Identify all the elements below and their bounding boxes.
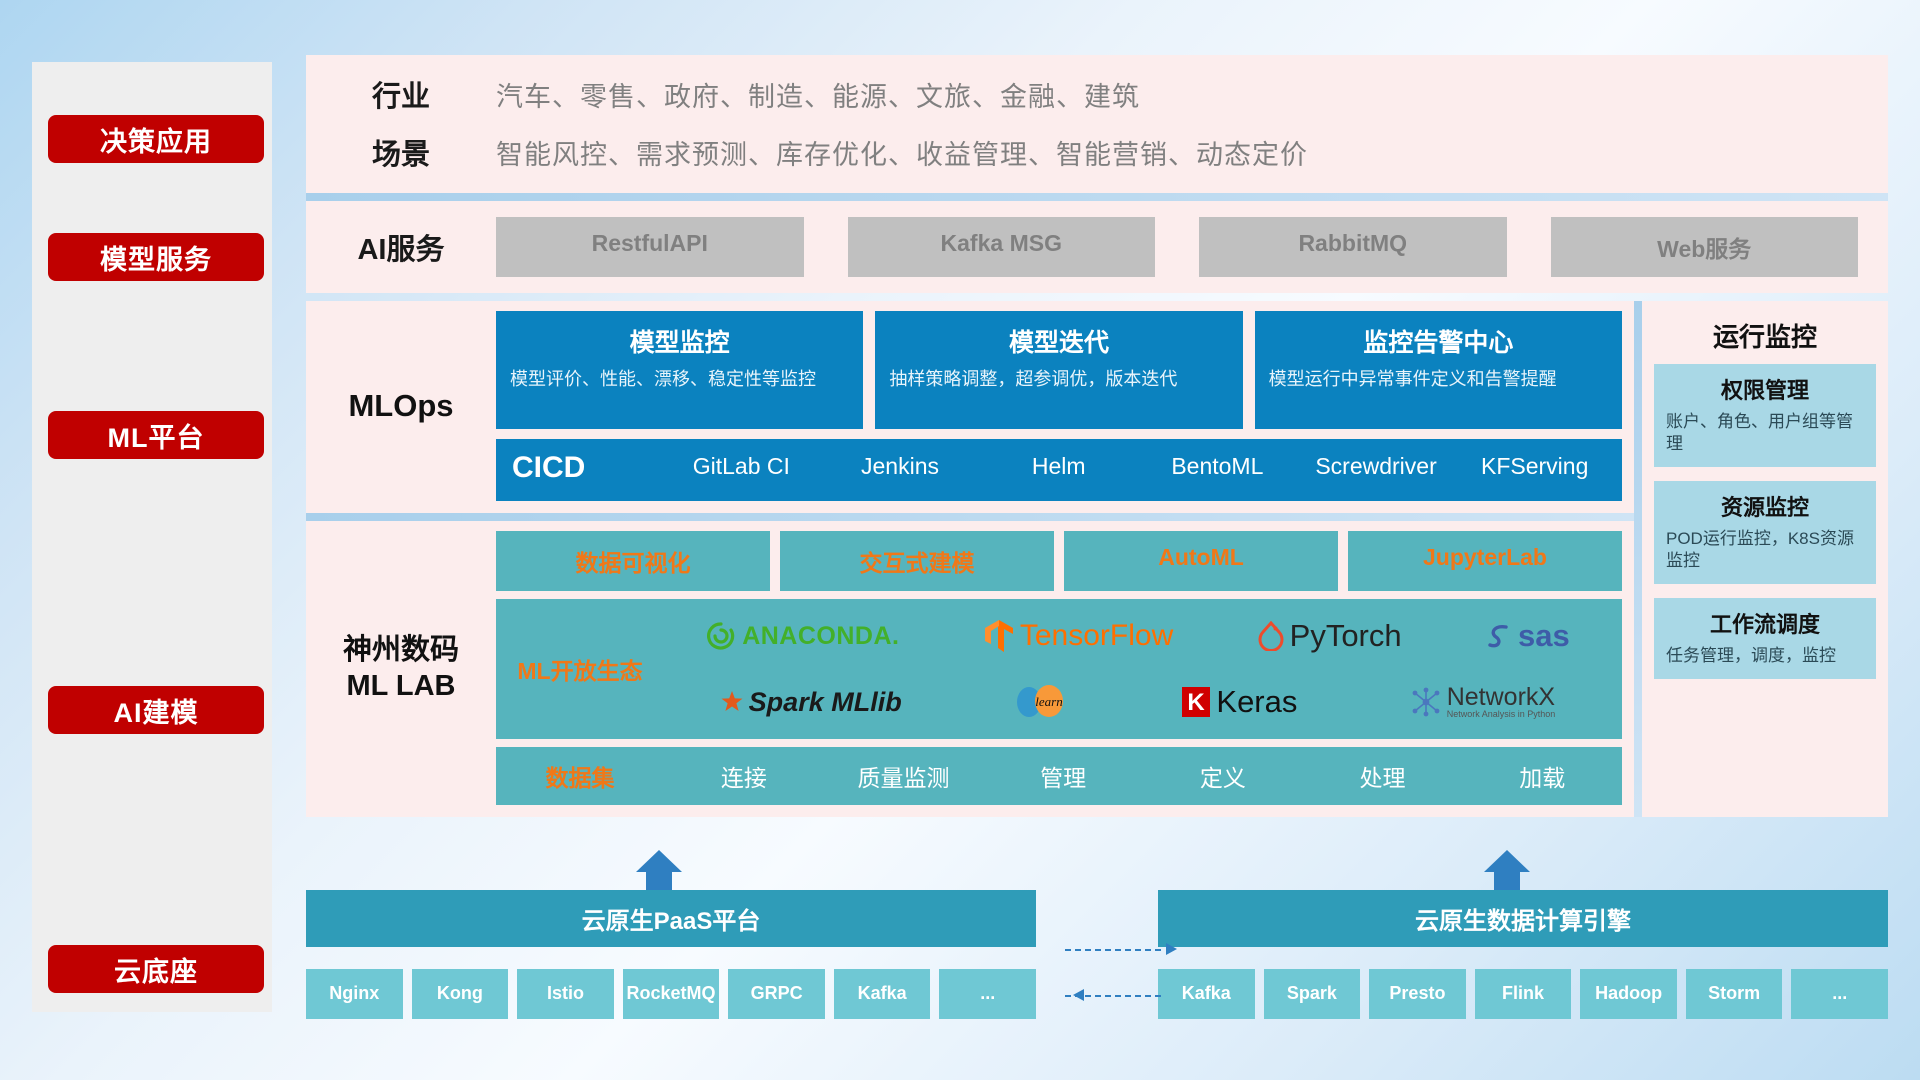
industry-value: 汽车、零售、政府、制造、能源、文旅、金融、建筑 [496,75,1140,114]
runtime-monitoring-title: 运行监控 [1642,301,1888,364]
panel-card-desc: 账户、角色、用户组等管理 [1666,411,1864,455]
ecosystem-logo-line-2: Spark MLlib learn [664,671,1612,733]
cloud-chip-more-left[interactable]: ... [939,969,1036,1019]
ecosystem-logo-line-1: ANACONDA. TensorFlow [664,605,1612,667]
cloud-chip-spark[interactable]: Spark [1264,969,1361,1019]
keras-icon: K [1182,687,1210,717]
ml-lab-label-line1: 神州数码 [343,632,459,668]
diagram-canvas: 决策应用 模型服务 ML平台 AI建模 云底座 行业 汽车、零售、政府、制造、能… [0,0,1920,1080]
svg-text:learn: learn [1035,694,1062,709]
ml-lab-band: 神州数码 ML LAB 数据可视化 交互式建模 AutoML JupyterLa… [306,521,1634,817]
rail-tag-label: AI建模 [114,691,199,730]
panel-card-resource-monitoring[interactable]: 资源监控 POD运行监控，K8S资源监控 [1654,481,1876,584]
tensorflow-label: TensorFlow [1020,619,1173,653]
cloud-chip-grpc[interactable]: GRPC [728,969,825,1019]
panel-card-title: 权限管理 [1666,373,1864,405]
networkx-subtitle: Network Analysis in Python [1447,710,1556,719]
anaconda-logo: ANACONDA. [706,621,899,651]
dashed-arrow-right [1065,940,1185,960]
tensorflow-logo: TensorFlow [984,619,1173,653]
ml-lab-label-line2: ML LAB [346,668,455,704]
pytorch-label: PyTorch [1290,618,1402,654]
cicd-item-gitlab-ci[interactable]: GitLab CI [662,451,821,482]
ai-service-chip-kafka-msg[interactable]: Kafka MSG [848,217,1156,277]
anaconda-label: ANACONDA. [742,622,899,651]
spark-star-icon [721,691,743,713]
cicd-title: CICD [512,451,662,485]
lab-tool-interactive-modeling[interactable]: 交互式建模 [780,531,1054,591]
cloud-paas-title: 云原生PaaS平台 [306,890,1036,947]
rail-tag-model-service[interactable]: 模型服务 [48,233,264,281]
sas-icon [1486,621,1512,651]
panel-card-title: 工作流调度 [1666,607,1864,639]
ai-service-chip-restfulapi[interactable]: RestfulAPI [496,217,804,277]
cloud-chip-more-right[interactable]: ... [1791,969,1888,1019]
rail-tag-label: 云底座 [114,950,198,989]
mlops-card-desc: 模型运行中异常事件定义和告警提醒 [1269,367,1608,391]
lab-tool-automl[interactable]: AutoML [1064,531,1338,591]
rail-tag-label: 决策应用 [100,120,212,159]
rail-tag-decision-app[interactable]: 决策应用 [48,115,264,163]
mlops-band: MLOps 模型监控 模型评价、性能、漂移、稳定性等监控 模型迭代 抽样策略调整… [306,301,1634,513]
anaconda-icon [706,621,736,651]
mlops-card-desc: 抽样策略调整，超参调优，版本迭代 [889,367,1228,391]
mlops-card-title: 模型监控 [510,323,849,359]
ai-service-chip-rabbitmq[interactable]: RabbitMQ [1199,217,1507,277]
dataset-item-management[interactable]: 管理 [983,759,1143,793]
pytorch-logo: PyTorch [1258,618,1402,654]
cloud-chip-storm[interactable]: Storm [1686,969,1783,1019]
panel-card-workflow-scheduling[interactable]: 工作流调度 任务管理，调度，监控 [1654,598,1876,679]
cloud-data-engine-title: 云原生数据计算引擎 [1158,890,1888,947]
mlops-card-title: 模型迭代 [889,323,1228,359]
networkx-logo: NetworkX Network Analysis in Python [1411,685,1556,719]
mlops-label: MLOps [306,311,496,501]
main-column: 行业 汽车、零售、政府、制造、能源、文旅、金融、建筑 场景 智能风控、需求预测、… [306,55,1888,817]
rail-tag-label: ML平台 [108,416,205,455]
dashed-arrow-left [1065,986,1185,1006]
ml-lab-label: 神州数码 ML LAB [306,531,496,805]
mlops-card-model-iteration[interactable]: 模型迭代 抽样策略调整，超参调优，版本迭代 [875,311,1242,429]
cloud-chip-hadoop[interactable]: Hadoop [1580,969,1677,1019]
spark-mllib-label: Spark MLlib [749,687,902,718]
cloud-data-engine-column: 云原生数据计算引擎 Kafka Spark Presto Flink Hadoo… [1158,890,1888,1019]
ml-ecosystem-row: ML开放生态 ANACONDA. [496,599,1622,739]
cloud-chip-flink[interactable]: Flink [1475,969,1572,1019]
rail-tag-ai-modeling[interactable]: AI建模 [48,686,264,734]
industry-label: 行业 [306,73,496,115]
ai-service-label: AI服务 [306,226,496,268]
networkx-label: NetworkX [1447,685,1556,710]
lab-tool-data-visualization[interactable]: 数据可视化 [496,531,770,591]
cicd-item-helm[interactable]: Helm [979,451,1138,482]
panel-card-title: 资源监控 [1666,490,1864,522]
left-rail [32,62,272,1012]
industry-band: 行业 汽车、零售、政府、制造、能源、文旅、金融、建筑 场景 智能风控、需求预测、… [306,55,1888,193]
keras-label: Keras [1216,684,1297,720]
cicd-item-bentoml[interactable]: BentoML [1138,451,1297,482]
lab-tool-jupyterlab[interactable]: JupyterLab [1348,531,1622,591]
mlops-card-desc: 模型评价、性能、漂移、稳定性等监控 [510,367,849,391]
pytorch-icon [1258,621,1284,651]
dataset-item-connect[interactable]: 连接 [664,759,824,793]
tensorflow-icon [984,619,1014,653]
cloud-chip-kong[interactable]: Kong [412,969,509,1019]
ai-service-band: AI服务 RestfulAPI Kafka MSG RabbitMQ Web服务 [306,201,1888,293]
keras-logo: K Keras [1182,684,1297,720]
ml-ecosystem-label: ML开放生态 [496,599,664,739]
dataset-item-definition[interactable]: 定义 [1143,759,1303,793]
mlops-card-title: 监控告警中心 [1269,323,1608,359]
mlops-card-model-monitoring[interactable]: 模型监控 模型评价、性能、漂移、稳定性等监控 [496,311,863,429]
cicd-row: CICD GitLab CI Jenkins Helm BentoML Scre… [496,439,1622,501]
cicd-item-jenkins[interactable]: Jenkins [821,451,980,482]
scenario-value: 智能风控、需求预测、库存优化、收益管理、智能营销、动态定价 [496,133,1308,172]
industry-row: 行业 汽车、零售、政府、制造、能源、文旅、金融、建筑 [306,73,1888,115]
sas-logo: sas [1486,618,1570,654]
panel-card-permission-management[interactable]: 权限管理 账户、角色、用户组等管理 [1654,364,1876,467]
dataset-item-loading[interactable]: 加载 [1462,759,1622,793]
spark-mllib-logo: Spark MLlib [721,687,902,718]
dataset-label: 数据集 [496,759,664,793]
bidirectional-dashed-arrows [1065,940,1185,1006]
scikit-learn-icon: learn [1015,685,1069,719]
cloud-chip-rocketmq[interactable]: RocketMQ [623,969,720,1019]
cicd-item-kfserving[interactable]: KFServing [1455,451,1614,482]
cloud-paas-column: 云原生PaaS平台 Nginx Kong Istio RocketMQ GRPC… [306,890,1036,1019]
mlops-card-alert-center[interactable]: 监控告警中心 模型运行中异常事件定义和告警提醒 [1255,311,1622,429]
networkx-icon [1411,687,1441,717]
scikit-learn-logo: learn [1015,685,1069,719]
cloud-chip-kafka[interactable]: Kafka [834,969,931,1019]
sas-label: sas [1518,618,1570,654]
platform-left: MLOps 模型监控 模型评价、性能、漂移、稳定性等监控 模型迭代 抽样策略调整… [306,301,1634,817]
scenario-label: 场景 [306,131,496,173]
panel-card-desc: POD运行监控，K8S资源监控 [1666,528,1864,572]
svg-text:K: K [1188,689,1206,716]
cicd-item-screwdriver[interactable]: Screwdriver [1297,451,1456,482]
rail-tag-label: 模型服务 [100,238,212,277]
rail-tag-ml-platform[interactable]: ML平台 [48,411,264,459]
dataset-row: 数据集 连接 质量监测 管理 定义 处理 加载 [496,747,1622,805]
dataset-item-processing[interactable]: 处理 [1303,759,1463,793]
scenario-row: 场景 智能风控、需求预测、库存优化、收益管理、智能营销、动态定价 [306,131,1888,173]
runtime-monitoring-panel: 运行监控 权限管理 账户、角色、用户组等管理 资源监控 POD运行监控，K8S资… [1642,301,1888,817]
cloud-chip-presto[interactable]: Presto [1369,969,1466,1019]
cloud-chip-istio[interactable]: Istio [517,969,614,1019]
platform-split: MLOps 模型监控 模型评价、性能、漂移、稳定性等监控 模型迭代 抽样策略调整… [306,301,1888,817]
cloud-chip-nginx[interactable]: Nginx [306,969,403,1019]
rail-tag-cloud-base[interactable]: 云底座 [48,945,264,993]
dataset-item-quality-monitoring[interactable]: 质量监测 [824,759,984,793]
panel-card-desc: 任务管理，调度，监控 [1666,645,1864,667]
ai-service-chip-web[interactable]: Web服务 [1551,217,1859,277]
